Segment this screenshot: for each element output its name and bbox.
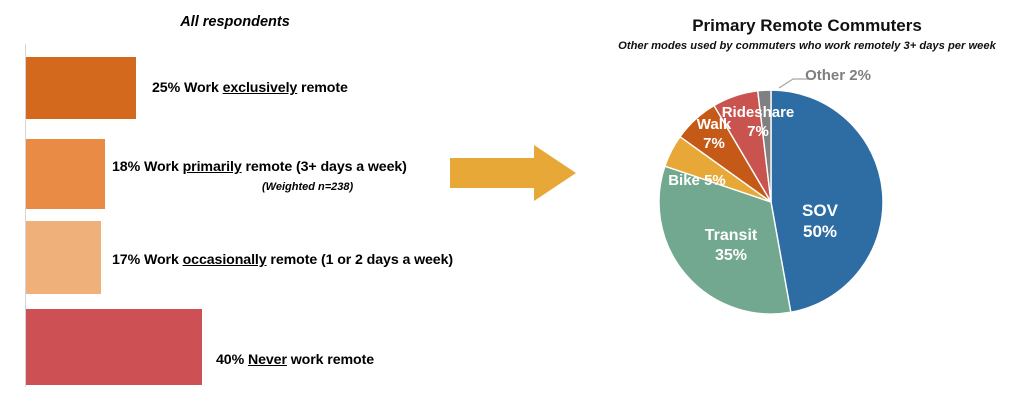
slide-canvas: All respondents 25% Work exclusively rem… bbox=[0, 0, 1024, 403]
pie-label-value: 7% bbox=[747, 123, 769, 140]
pie-label-bike: Bike 5% bbox=[668, 172, 726, 189]
pie-chart-graphic: SOV50%Transit35%Bike 5%Walk7%Rideshare7%… bbox=[0, 0, 1024, 403]
pie-label-value: 50% bbox=[803, 222, 837, 241]
pie-label-name: Rideshare bbox=[722, 104, 795, 121]
pie-label-value: 35% bbox=[715, 247, 747, 264]
pie-label-name: SOV bbox=[802, 201, 839, 220]
pie-label-name: Transit bbox=[705, 227, 758, 244]
pie-label-name: Bike 5% bbox=[668, 172, 726, 189]
pie-label-name: Other 2% bbox=[805, 67, 871, 84]
pie-label-value: 7% bbox=[703, 135, 725, 152]
pie-slice-group bbox=[659, 90, 883, 314]
pie-label-other: Other 2% bbox=[805, 67, 871, 84]
